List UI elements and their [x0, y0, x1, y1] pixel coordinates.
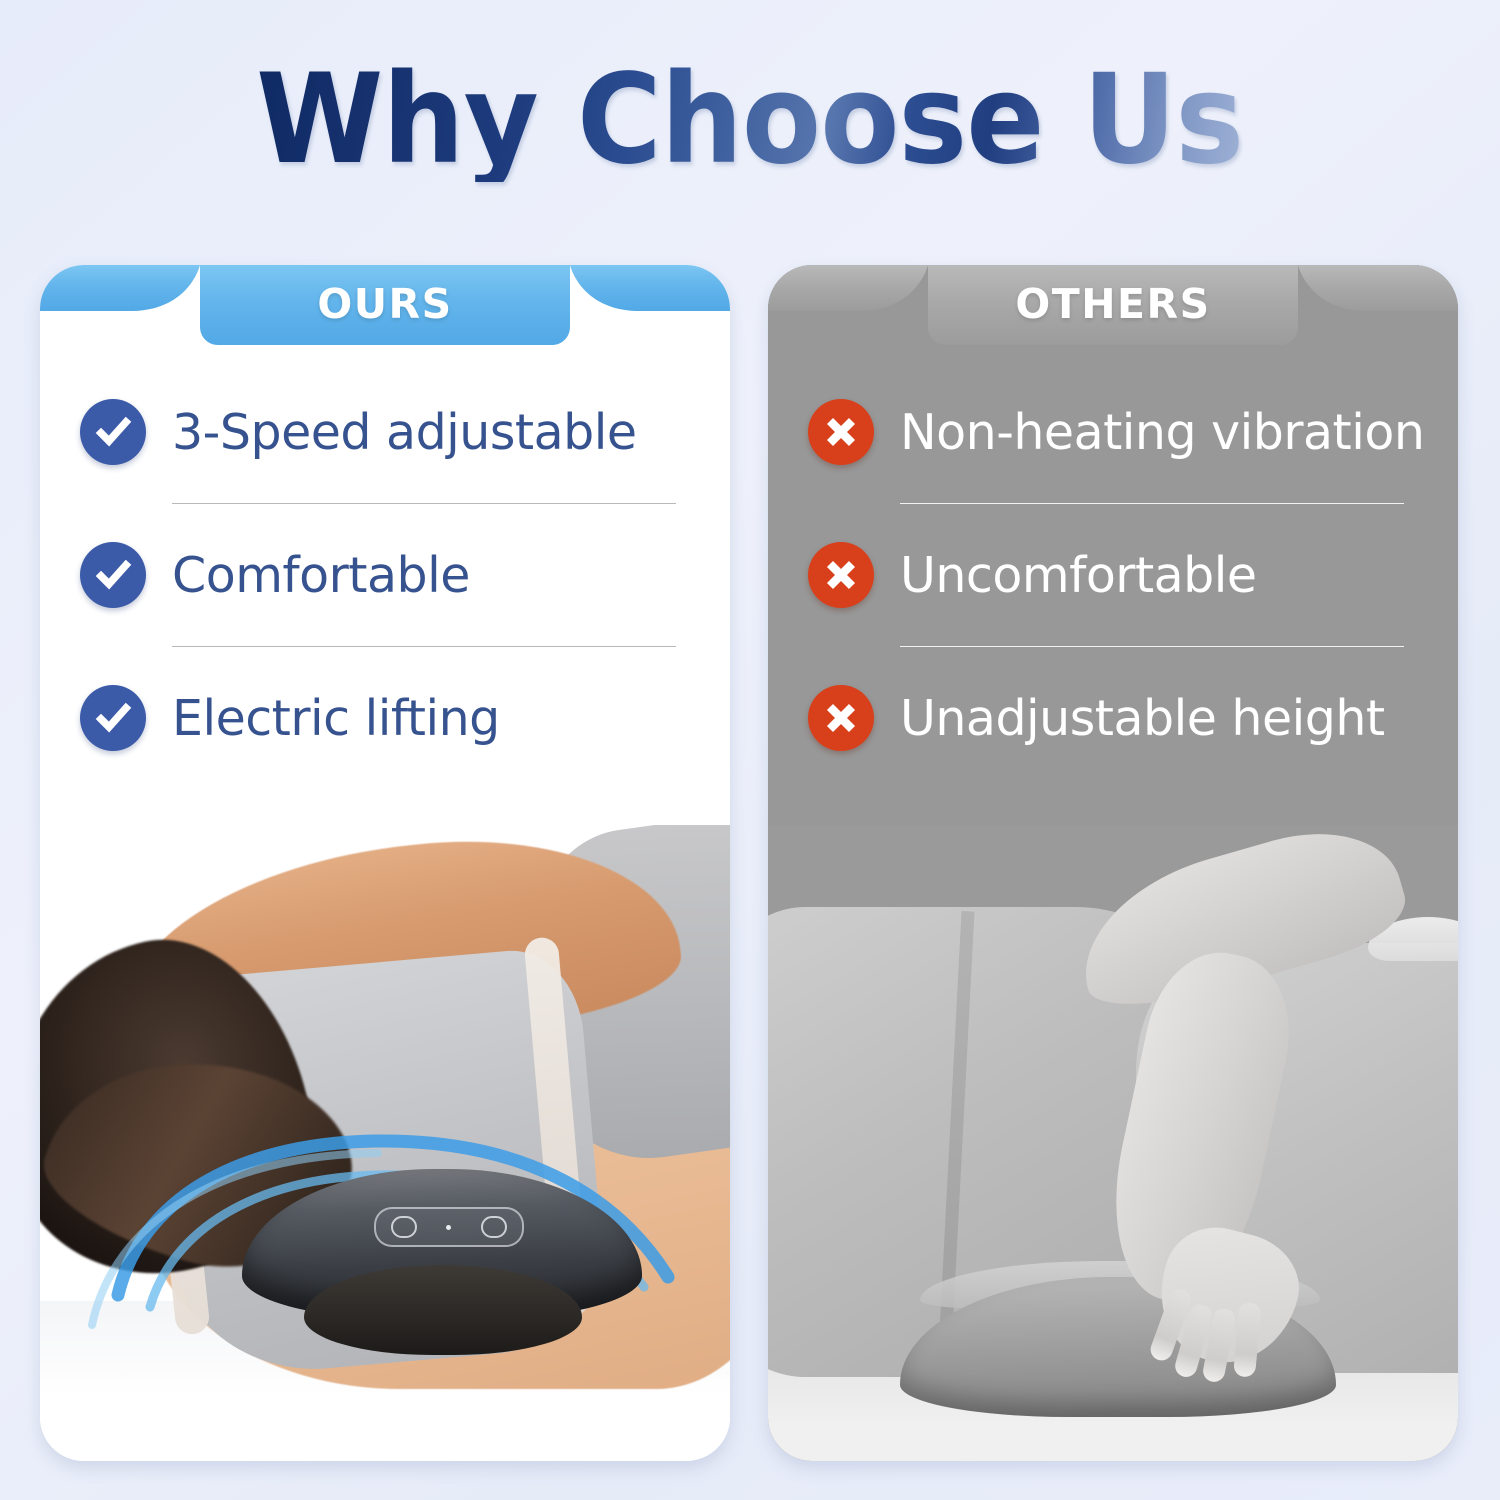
power-button-icon	[391, 1216, 417, 1238]
comparison-card-others: OTHERS Non-heating vibration Uncomfortab…	[768, 265, 1458, 1461]
page-header: Why Choose Us	[0, 58, 1500, 182]
x-circle-icon	[808, 685, 874, 751]
x-circle-icon	[808, 399, 874, 465]
others-feature-list: Non-heating vibration Uncomfortable Unad…	[768, 361, 1458, 789]
feature-label: Unadjustable height	[900, 690, 1385, 747]
feature-row: 3-Speed adjustable	[80, 361, 690, 503]
check-circle-icon	[80, 685, 146, 751]
heat-button-icon	[481, 1216, 507, 1238]
feature-label: Comfortable	[172, 547, 470, 604]
vibration-wave-graphic	[40, 825, 730, 1461]
check-circle-icon	[80, 542, 146, 608]
feature-label: Electric lifting	[172, 690, 500, 747]
feature-row: Uncomfortable	[808, 504, 1418, 646]
others-tab-label: OTHERS	[768, 265, 1458, 343]
ours-feature-list: 3-Speed adjustable Comfortable Electric …	[40, 361, 730, 789]
x-circle-icon	[808, 542, 874, 608]
feature-row: Comfortable	[80, 504, 690, 646]
feature-label: Uncomfortable	[900, 547, 1257, 604]
check-circle-icon	[80, 399, 146, 465]
feature-row: Unadjustable height	[808, 647, 1418, 789]
device-control-panel	[374, 1207, 524, 1247]
feature-row: Electric lifting	[80, 647, 690, 789]
feature-label: 3-Speed adjustable	[172, 404, 636, 461]
feature-label: Non-heating vibration	[900, 404, 1424, 461]
page-title: Why Choose Us	[256, 58, 1243, 182]
ours-tab-label: OURS	[40, 265, 730, 343]
comparison-card-ours: OURS 3-Speed adjustable Comfortable	[40, 265, 730, 1461]
indicator-dot-icon	[446, 1225, 451, 1230]
others-product-photo	[768, 825, 1458, 1461]
ours-product-photo	[40, 825, 730, 1461]
feature-row: Non-heating vibration	[808, 361, 1418, 503]
lumbar-massager-device	[242, 1169, 642, 1359]
